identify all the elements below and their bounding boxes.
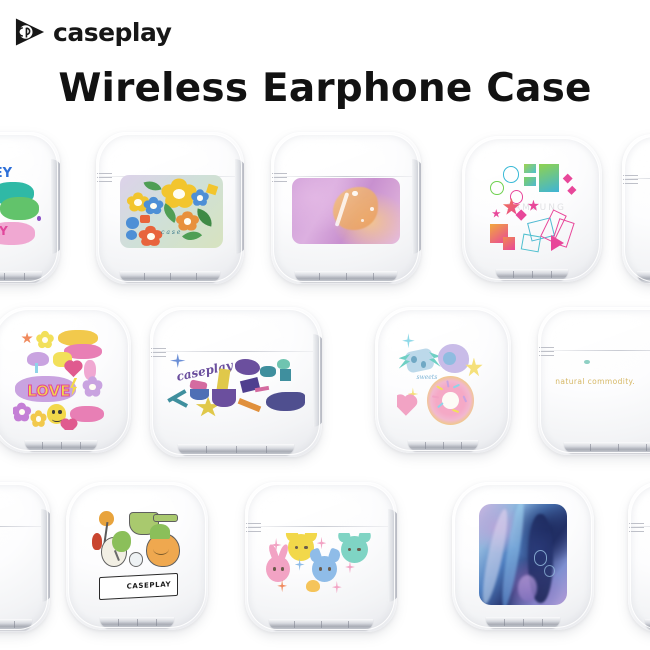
case-artwork-caseplay-doodles: caseplay: [167, 352, 308, 424]
natural-commodity-text: natural commodity.: [555, 377, 635, 386]
product-banner-page: caseplay Wireless Earphone Case EY AY: [0, 0, 650, 650]
case-r1c1[interactable]: EY AY: [0, 132, 60, 284]
case-artwork-animal-faces: [266, 533, 375, 596]
case-artwork-kitchen-line-art: CASEPLAY: [92, 509, 186, 604]
case-artwork-gradient-geometry: SAMSUNG: [490, 162, 580, 255]
case-artwork-blue-marble: [479, 504, 567, 605]
case-artwork-pastel-donut: sweets: [397, 333, 487, 426]
brand-logo[interactable]: caseplay: [14, 17, 171, 47]
case-r1c4[interactable]: SAMSUNG: [462, 136, 602, 282]
case-r2c2[interactable]: caseplay: [150, 307, 322, 457]
brand-name: caseplay: [53, 20, 171, 45]
case-r2c3[interactable]: sweets: [375, 307, 511, 453]
case-r1c2[interactable]: c a s e: [96, 132, 244, 284]
case-artwork-typography-blobs: EY AY: [0, 156, 56, 262]
play-triangle-cp-monogram-icon: [14, 17, 46, 47]
case-r3c3[interactable]: [245, 482, 397, 632]
case-r2c1[interactable]: LOVE: [0, 307, 131, 453]
case-artwork-pink-marble: [292, 178, 400, 245]
case-artwork-natural-commodity: natural commodity.: [551, 351, 650, 413]
case-r1c5[interactable]: [622, 134, 650, 284]
case-r3c4[interactable]: [452, 482, 594, 630]
case-r3c1[interactable]: [0, 482, 50, 632]
case-row: LOVE: [0, 307, 650, 479]
case-artwork-love-sticker-collage: LOVE: [13, 330, 111, 429]
page-title: Wireless Earphone Case: [0, 66, 650, 111]
case-gallery: EY AY: [0, 132, 650, 650]
case-row: EY AY: [0, 132, 650, 304]
caseplay-banner-text: CASEPLAY: [127, 581, 172, 591]
case-artwork-retro-floral: c a s e: [120, 175, 224, 248]
case-r3c5[interactable]: [628, 482, 650, 632]
case-r3c2[interactable]: CASEPLAY: [66, 482, 208, 630]
case-row: CASEPLAY: [0, 482, 650, 650]
case-r2c4[interactable]: natural commodity.: [538, 307, 650, 455]
case-r1c3[interactable]: [271, 132, 421, 284]
